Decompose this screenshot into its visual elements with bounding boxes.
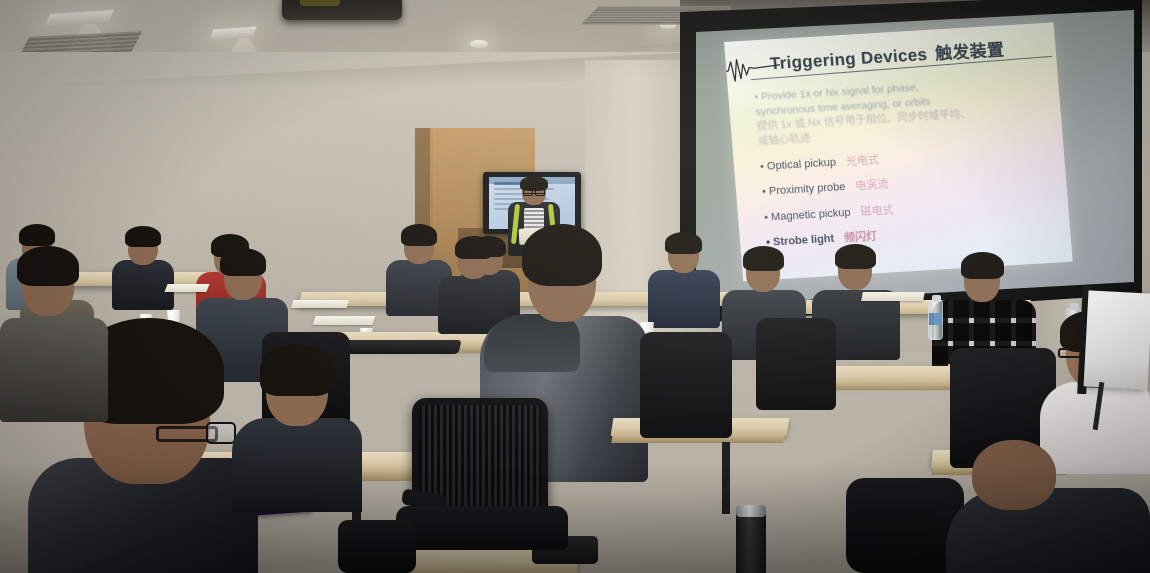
attendee-hair [743, 246, 784, 271]
chair-seat [396, 506, 568, 550]
handout-papers [861, 292, 925, 301]
attendee-head [972, 440, 1056, 510]
desk-leg [722, 442, 730, 514]
handout-papers [291, 300, 349, 308]
attendee-hair [401, 224, 437, 246]
attendee-hair [665, 232, 702, 254]
attendee-hair [19, 224, 55, 246]
chair-base [338, 520, 416, 573]
water-bottle [928, 300, 943, 340]
attendee-foreground-right-2 [946, 466, 1150, 573]
ceiling-light-icon [470, 40, 488, 48]
attendee-torso [112, 260, 174, 310]
attendee-hair [522, 224, 602, 286]
attendee-hair [125, 226, 161, 247]
office-chair [756, 318, 836, 410]
attendee-torso [232, 418, 362, 512]
office-chair [640, 332, 732, 438]
hoodie-hood [484, 314, 580, 372]
attendee-torso [648, 270, 720, 328]
attendee-hair [17, 246, 79, 286]
waveform-icon [724, 53, 783, 86]
projector-icon [282, 0, 402, 20]
handout-papers [313, 316, 376, 325]
attendee [112, 224, 174, 308]
classroom-photo: Triggering Devices触发装置 • Provide 1x or N… [0, 0, 1150, 573]
attendee-hair [835, 244, 876, 269]
flipchart-board [1084, 290, 1150, 389]
presentation-slide: Triggering Devices触发装置 • Provide 1x or N… [724, 22, 1073, 281]
attendee-torso [0, 318, 108, 422]
slide-body: • Provide 1x or Nx signal for phase, syn… [754, 74, 1060, 250]
slide-title-en: Triggering Devices [769, 45, 928, 73]
attendee-hair [220, 248, 266, 276]
attendee [232, 348, 362, 508]
attendee-torso [946, 488, 1150, 573]
thermos-flask [736, 512, 766, 573]
glasses-icon [523, 188, 545, 194]
attendee-hair [961, 252, 1004, 279]
attendee [648, 230, 720, 326]
attendee-hair [260, 344, 334, 396]
attendee [0, 248, 108, 418]
